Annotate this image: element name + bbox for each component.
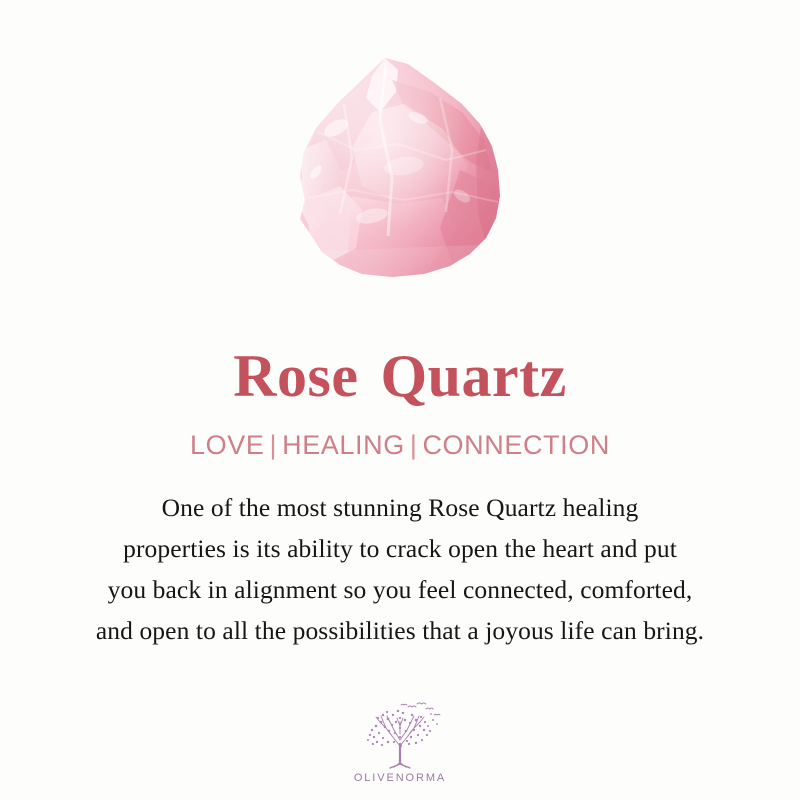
keyword-separator-1: | [264, 430, 282, 460]
description-line: One of the most stunning Rose Quartz hea… [40, 487, 760, 528]
brand-logo[interactable]: OLIVENORMA [0, 700, 800, 784]
product-info-card: RoseQuartz LOVE|HEALING|CONNECTION One o… [0, 0, 800, 800]
product-image-container [0, 0, 800, 300]
crystal-body [290, 45, 515, 292]
keyword-love: LOVE [190, 430, 264, 460]
tree-of-life-icon [354, 700, 446, 770]
description-line: and open to all the possibilities that a… [40, 610, 760, 651]
product-description: One of the most stunning Rose Quartz hea… [40, 487, 760, 651]
birds-icon [401, 703, 440, 715]
title-word-rose: Rose [233, 343, 358, 409]
description-line: you back in alignment so you feel connec… [40, 569, 760, 610]
title-word-quartz: Quartz [381, 343, 567, 409]
description-line: properties is its ability to crack open … [40, 528, 760, 569]
page-title: RoseQuartz [233, 346, 567, 406]
keyword-subtitle: LOVE|HEALING|CONNECTION [190, 432, 610, 459]
brand-name: OLIVENORMA [354, 772, 446, 784]
keyword-separator-2: | [405, 430, 423, 460]
keyword-healing: HEALING [282, 430, 405, 460]
keyword-connection: CONNECTION [422, 430, 610, 460]
rose-quartz-crystal-icon [0, 0, 800, 300]
